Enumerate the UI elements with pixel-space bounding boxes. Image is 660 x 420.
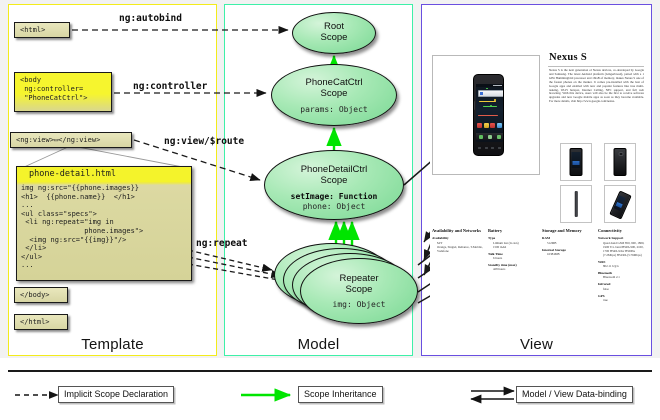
panel-view-label: View <box>422 336 651 353</box>
article-title: Nexus S <box>549 52 587 63</box>
scope-repeater-title-1: Repeater <box>301 273 417 284</box>
diagram-stage: Template Model View <box>0 0 660 358</box>
spec-value-infrared: false <box>598 287 648 291</box>
article-title-rule <box>548 66 644 67</box>
spec-header-connectivity: Connectivity <box>598 228 648 233</box>
scope-root-title-2: Scope <box>293 32 375 43</box>
panel-model-label: Model <box>225 336 412 353</box>
spec-value-battery-standby: 428 hours <box>488 267 540 271</box>
spec-table: Availability and Networks Availability M… <box>432 228 646 320</box>
spec-value-network-support: Quad-band GSM 850, 900, 1800, 1900 Tri- … <box>598 241 648 257</box>
legend-label-model-view-data-binding: Model / View Data-binding <box>516 386 633 403</box>
scope-phonecatctrl: PhoneCatCtrl Scope params: Object <box>271 64 397 126</box>
spec-value-battery-talk: 6 hours <box>488 256 540 260</box>
scope-root: Root Scope <box>292 12 376 54</box>
scope-root-title-1: Root <box>293 21 375 32</box>
label-ng-controller: ng:controller <box>133 81 207 92</box>
legend-divider <box>8 370 652 372</box>
thumbnail-angled[interactable] <box>604 185 636 223</box>
spec-header-battery: Battery <box>488 228 540 233</box>
scope-phonecatctrl-prop-params: params: Object <box>272 105 396 115</box>
spec-header-availability: Availability and Networks <box>432 228 484 233</box>
article-body-text: Nexus S is the next generation of Nexus … <box>549 69 644 127</box>
spec-header-storage: Storage and Memory <box>542 228 596 233</box>
phone-volume-key <box>473 101 475 110</box>
thumbnail-side[interactable] <box>560 185 592 223</box>
scope-repeater-prop-img: img: Object <box>301 300 417 310</box>
phone-hardware-keys <box>476 144 503 152</box>
scope-phonedetailctrl-prop-phone: phone: Object <box>265 202 403 212</box>
scope-phonecatctrl-title-2: Scope <box>272 88 396 99</box>
phone-dock <box>476 133 503 140</box>
spec-value-battery-type-1: 1500 mAh <box>488 245 540 249</box>
thumbnail-back[interactable] <box>604 143 636 181</box>
scope-phonedetailctrl: PhoneDetailCtrl Scope setImage: Function… <box>264 150 404 220</box>
scope-phonedetailctrl-title-2: Scope <box>265 175 403 186</box>
phone-app-icons <box>477 123 502 131</box>
legend-label-implicit-scope-declaration: Implicit Scope Declaration <box>58 386 174 403</box>
scope-phonedetailctrl-prop-setimage: setImage: Function <box>265 192 403 202</box>
label-ng-repeat: ng:repeat <box>196 238 247 249</box>
code-html-open: <html> <box>14 22 70 38</box>
phone-statusbar <box>476 84 503 87</box>
spec-value-wifi: 802.11 b/g/n <box>598 264 648 268</box>
spec-value-ram: 512MB <box>542 241 596 245</box>
code-ng-view: <ng:view>▭</ng:view> <box>10 132 132 148</box>
spec-column-availability: Availability and Networks Availability M… <box>432 228 484 253</box>
spec-column-battery: Battery Type Lithium Ion (Li-Ion) 1500 m… <box>488 228 540 271</box>
scope-phonecatctrl-title-1: PhoneCatCtrl <box>272 77 396 88</box>
legend: Implicit Scope Declaration Scope Inherit… <box>0 358 660 420</box>
phone-search-widget <box>478 90 504 97</box>
thumbnail-side-image <box>575 191 578 217</box>
code-html-close: </html> <box>14 314 68 330</box>
thumbnail-back-image <box>614 148 627 176</box>
template-file-card: phone-detail.html img ng:src="{{phone.im… <box>16 166 192 281</box>
label-ng-autobind: ng:autobind <box>119 13 182 24</box>
spec-column-storage: Storage and Memory RAM 512MB Internal St… <box>542 228 596 256</box>
legend-label-scope-inheritance: Scope Inheritance <box>298 386 383 403</box>
code-body-open: <body ng:controller= "PhoneCatCtrl"> <box>14 72 112 112</box>
template-file-code: img ng:src="{{phone.images}} <h1> {{phon… <box>17 182 191 272</box>
code-body-close: </body> <box>14 287 68 303</box>
nexus-s-phone-image <box>473 74 504 156</box>
template-file-name: phone-detail.html <box>17 167 191 182</box>
thumbnail-front[interactable] <box>560 143 592 181</box>
spec-value-gps: true <box>598 298 648 302</box>
scope-phonedetailctrl-title-1: PhoneDetailCtrl <box>265 164 403 175</box>
diagram-root: Template Model View <box>0 0 660 420</box>
scope-repeater-title-2: Scope <box>301 284 417 295</box>
thumbnail-angled-image <box>611 192 629 216</box>
spec-value-internal-storage: 16384MB <box>542 252 596 256</box>
thumbnail-front-image <box>570 148 583 176</box>
scope-repeater: Repeater Scope img: Object <box>300 258 418 324</box>
label-ng-view-route: ng:view/$route <box>164 136 244 147</box>
spec-value-bluetooth: Bluetooth 2.1 <box>598 275 648 279</box>
spec-column-connectivity: Connectivity Network Support Quad-band G… <box>598 228 648 302</box>
spec-value-availability-1: Orange, Singtel, Reliance, T-Mobile, Vod… <box>432 245 484 253</box>
panel-template-label: Template <box>9 336 216 353</box>
